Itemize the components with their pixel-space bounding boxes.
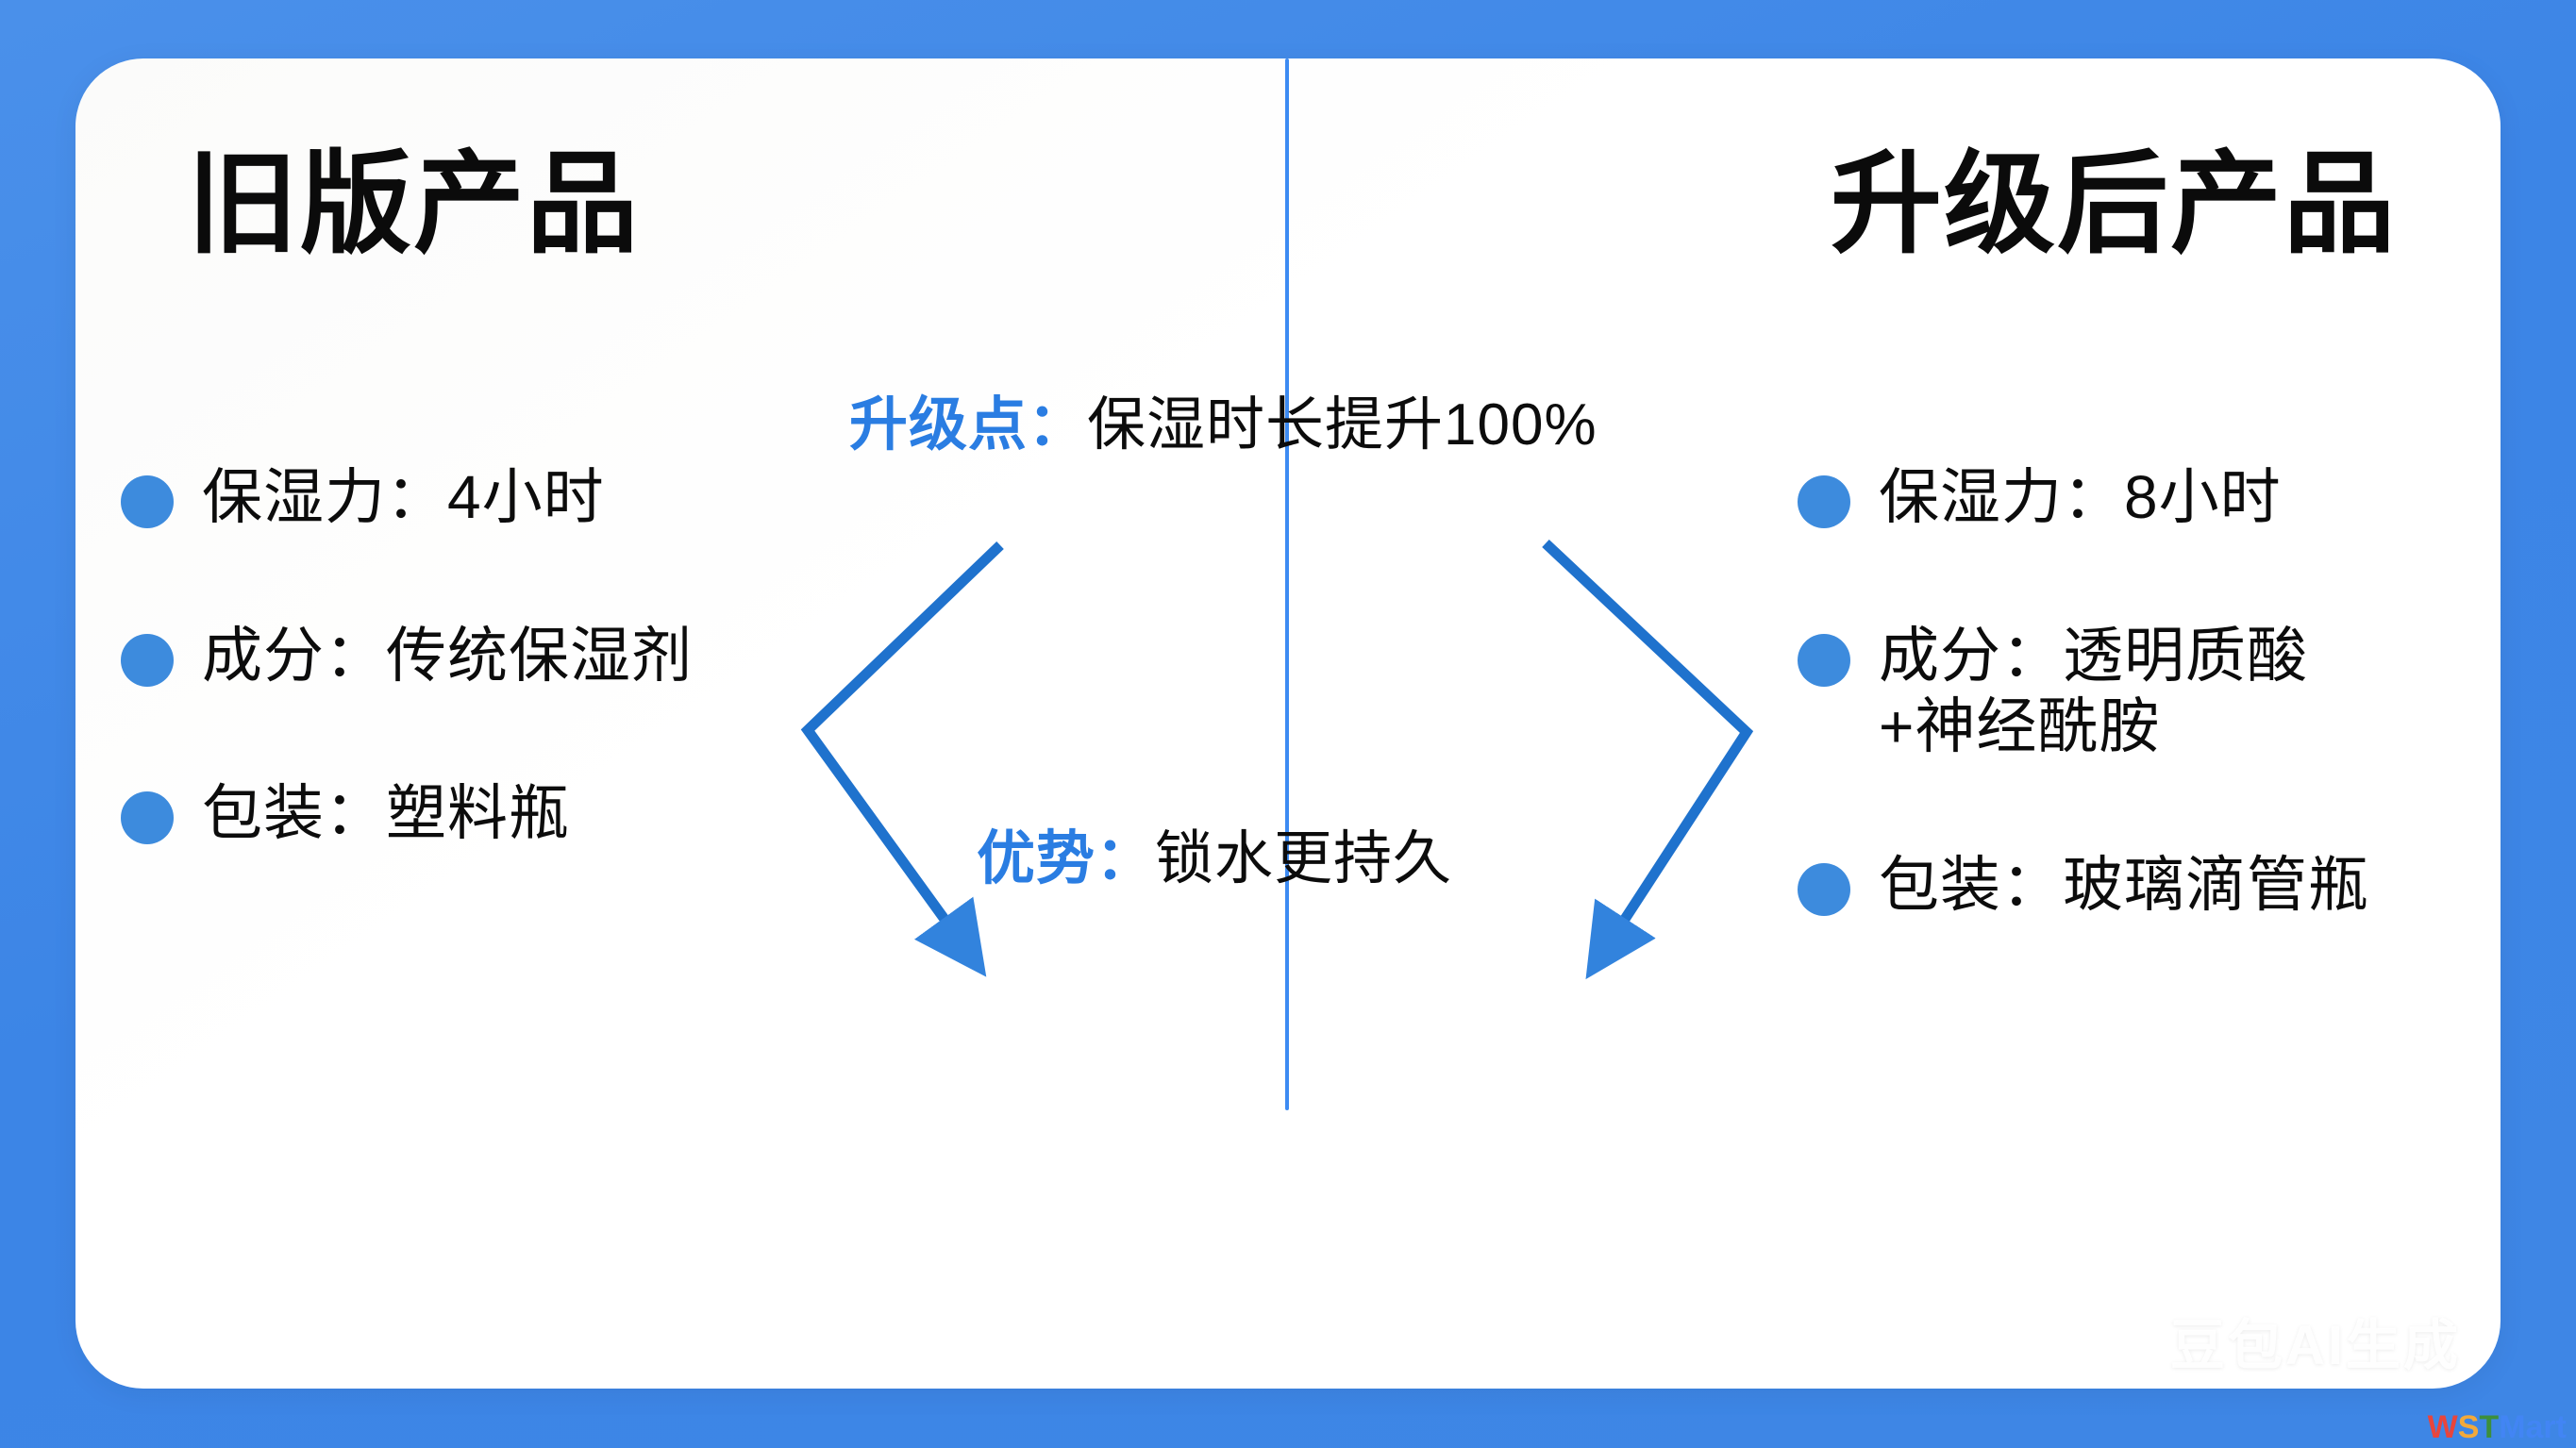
left-column-title: 旧版产品: [187, 149, 640, 260]
list-item: 保湿力：8小时: [1798, 462, 2515, 534]
bullet-dot-icon: [1798, 634, 1850, 687]
bullet-dot-icon: [1798, 475, 1850, 528]
bullet-dot-icon: [1798, 863, 1850, 916]
list-item: 成分：透明质酸 +神经酰胺: [1798, 621, 2515, 763]
advantage-value: 锁水更持久: [1155, 826, 1452, 891]
right-feature-list: 保湿力：8小时 成分：透明质酸 +神经酰胺 包装：玻璃滴管瓶: [1798, 462, 2515, 1007]
bullet-dot-icon: [121, 475, 174, 528]
bullet-dot-icon: [121, 791, 174, 844]
right-column-title: 升级后产品: [1831, 149, 2397, 260]
list-item-label: 成分：透明质酸 +神经酰胺: [1879, 621, 2308, 763]
list-item-label: 包装：玻璃滴管瓶: [1879, 850, 2369, 922]
upgrade-point-value: 保湿时长提升100%: [1087, 392, 1597, 458]
list-item-label: 保湿力：4小时: [202, 462, 605, 534]
wstmart-letter-s: S: [2458, 1409, 2480, 1445]
list-item: 包装：塑料瓶: [121, 778, 838, 850]
bullet-dot-icon: [121, 634, 174, 687]
doubao-watermark: 豆包AI生成: [2170, 1301, 2461, 1380]
upgrade-point-annotation: 升级点：保湿时长提升100%: [849, 396, 1597, 455]
list-item: 包装：玻璃滴管瓶: [1798, 850, 2515, 922]
upgrade-point-prefix: 升级点：: [849, 392, 1087, 458]
comparison-infographic: 旧版产品 升级后产品 保湿力：4小时 成分：传统保湿剂 包装：塑料瓶 保湿力：8…: [0, 0, 2576, 1448]
wstmart-letter-w: W: [2428, 1409, 2458, 1445]
list-item-label: 保湿力：8小时: [1879, 462, 2282, 534]
list-item-label: 包装：塑料瓶: [202, 778, 570, 850]
advantage-annotation: 优势：锁水更持久: [977, 830, 1452, 889]
left-feature-list: 保湿力：4小时 成分：传统保湿剂 包装：塑料瓶: [121, 462, 838, 937]
advantage-prefix: 优势：: [977, 826, 1155, 891]
list-item: 成分：传统保湿剂: [121, 621, 838, 692]
list-item-label: 成分：传统保湿剂: [202, 621, 693, 692]
wstmart-logo: WSTMart: [2428, 1409, 2567, 1446]
list-item: 保湿力：4小时: [121, 462, 838, 534]
wstmart-letters-mart: Mart: [2499, 1409, 2567, 1445]
wstmart-letter-t: T: [2479, 1409, 2499, 1445]
column-divider: [1285, 58, 1289, 1110]
